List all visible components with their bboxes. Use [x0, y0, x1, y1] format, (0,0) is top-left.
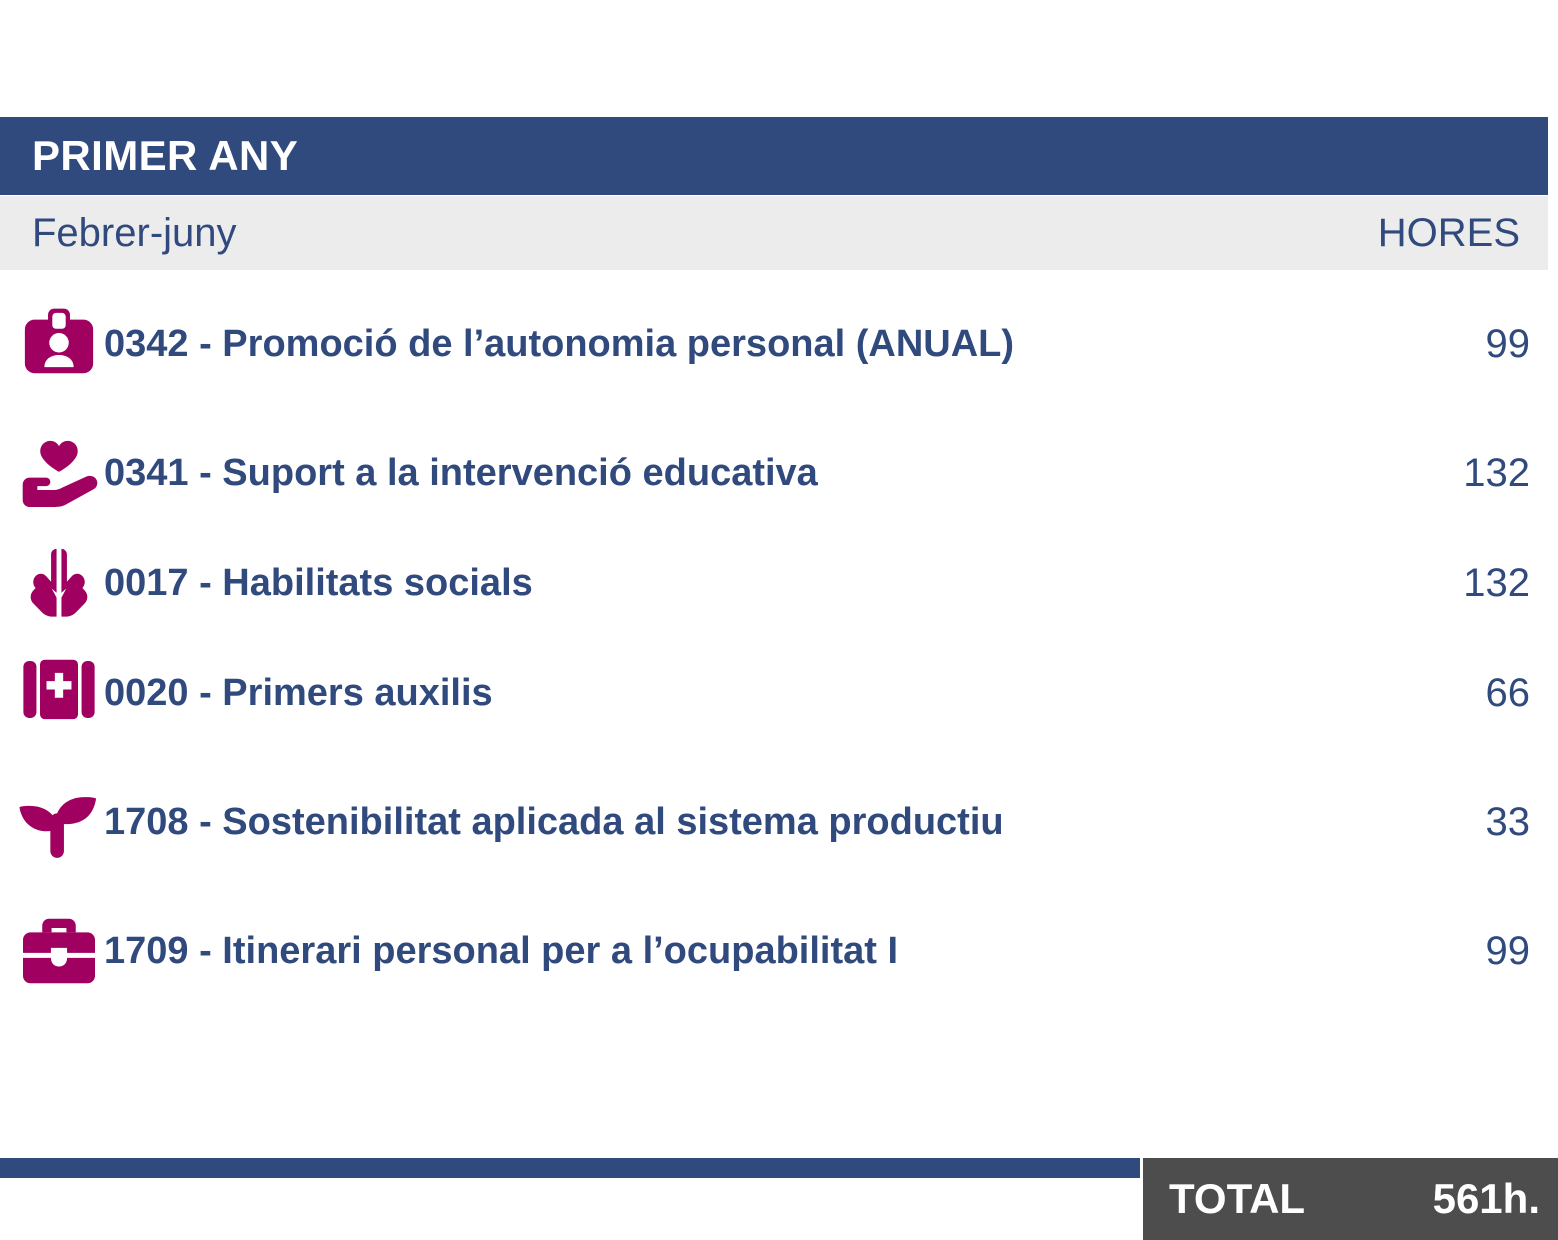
module-name: 1709 - Itinerari personal per a l’ocupab… [104, 929, 1380, 974]
table-row[interactable]: 0342 - Promoció de l’autonomia personal … [0, 270, 1558, 418]
hand-holding-heart-icon [14, 434, 104, 512]
module-hours: 99 [1380, 324, 1530, 364]
module-name: 0017 - Habilitats socials [104, 561, 1380, 606]
course-hours-table: PRIMER ANY Febrer-juny HORES 0342 - Prom… [0, 0, 1558, 1240]
table-footer: TOTAL 561h. [0, 1158, 1558, 1240]
seedling-icon [14, 782, 104, 862]
table-row[interactable]: 1708 - Sostenibilitat aplicada al sistem… [0, 748, 1558, 896]
module-name: 1708 - Sostenibilitat aplicada al sistem… [104, 800, 1380, 845]
table-row[interactable]: 0020 - Primers auxilis 66 [0, 638, 1558, 748]
module-list: 0342 - Promoció de l’autonomia personal … [0, 270, 1558, 1006]
table-row[interactable]: 0341 - Suport a la intervenció educativa… [0, 418, 1558, 528]
period-label: Febrer-juny [32, 213, 1378, 253]
id-badge-icon [14, 305, 104, 383]
total-value: 561h. [1433, 1178, 1540, 1220]
praying-hands-icon [14, 544, 104, 622]
footer-divider [0, 1158, 1140, 1178]
module-hours: 99 [1380, 931, 1530, 971]
table-column-header: Febrer-juny HORES [0, 196, 1548, 270]
table-row[interactable]: 0017 - Habilitats socials 132 [0, 528, 1558, 638]
module-hours: 132 [1380, 563, 1530, 603]
module-hours: 66 [1380, 673, 1530, 713]
total-badge: TOTAL 561h. [1143, 1158, 1558, 1240]
module-hours: 33 [1380, 802, 1530, 842]
table-row[interactable]: 1709 - Itinerari personal per a l’ocupab… [0, 896, 1558, 1006]
top-spacer [0, 0, 1558, 117]
module-hours: 132 [1380, 453, 1530, 493]
hours-column-header: HORES [1378, 213, 1520, 253]
year-title-bar: PRIMER ANY [0, 117, 1548, 195]
module-name: 0341 - Suport a la intervenció educativa [104, 451, 1380, 496]
first-aid-kit-icon [14, 657, 104, 729]
module-name: 0020 - Primers auxilis [104, 671, 1380, 716]
total-label: TOTAL [1169, 1178, 1433, 1220]
module-name: 0342 - Promoció de l’autonomia personal … [104, 322, 1380, 367]
briefcase-icon [14, 915, 104, 987]
page-title: PRIMER ANY [32, 135, 298, 177]
